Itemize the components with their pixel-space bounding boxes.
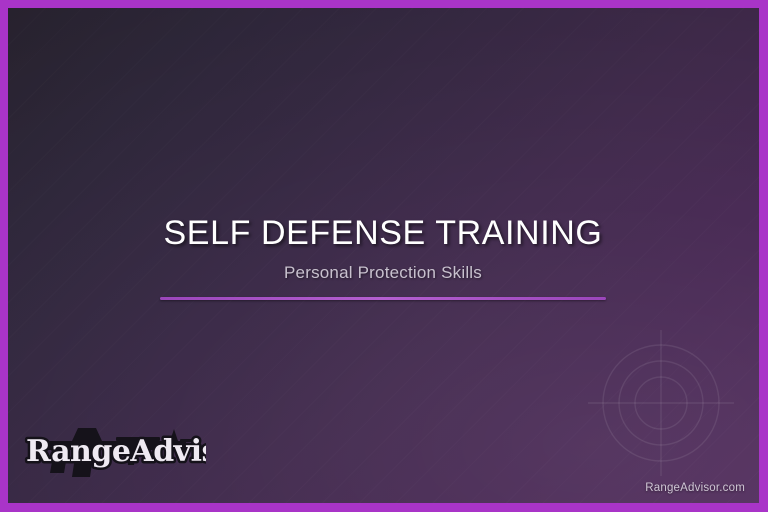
title-divider — [160, 297, 606, 300]
logo-wordmark: RangeAdvisor — [26, 434, 206, 469]
presentation-slide: SELF DEFENSE TRAINING Personal Protectio… — [0, 0, 768, 512]
title-block: SELF DEFENSE TRAINING Personal Protectio… — [8, 214, 758, 300]
watermark-url: RangeAdvisor.com — [645, 482, 745, 494]
page-title: SELF DEFENSE TRAINING — [8, 214, 758, 253]
brand-logo: RangeAdvisor — [20, 415, 206, 489]
target-crosshair-icon — [586, 328, 736, 478]
slide-canvas: SELF DEFENSE TRAINING Personal Protectio… — [8, 8, 759, 503]
page-subtitle: Personal Protection Skills — [8, 263, 758, 283]
